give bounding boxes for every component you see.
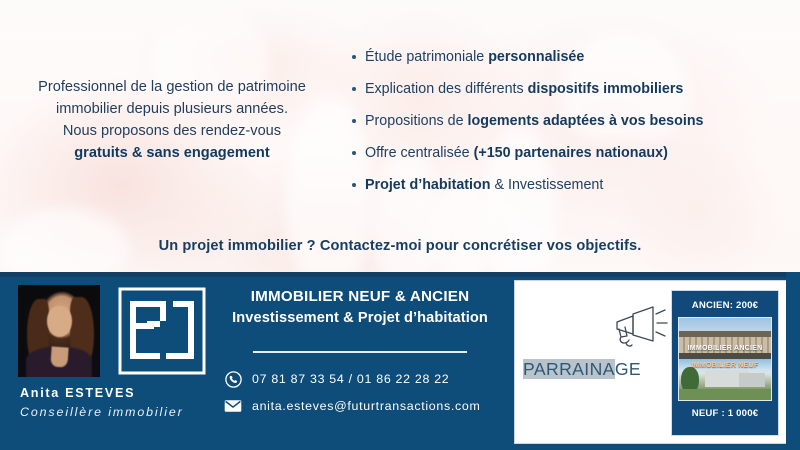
benefits-list: Étude patrimoniale personnalisée Explica…	[352, 48, 782, 208]
benefit-pre: Étude patrimoniale	[365, 49, 488, 65]
avatar-face	[47, 306, 72, 337]
list-item: Projet d’habitation & Investissement	[352, 176, 782, 194]
benefit-post: & Investissement	[491, 177, 604, 193]
benefit-bold: (+150 partenaires nationaux)	[474, 145, 668, 161]
benefit-pre: Offre centralisée	[365, 145, 474, 161]
intro-paragraph: Professionnel de la gestion de patrimoin…	[12, 76, 332, 164]
benefit-text: Projet d’habitation & Investissement	[365, 176, 782, 194]
benefit-text: Propositions de logements adaptées à vos…	[365, 112, 782, 130]
property-photos: IMMOBILIER ANCIEN IMMOBILIER NEUF	[678, 317, 772, 401]
property-photo-new: IMMOBILIER NEUF	[679, 359, 771, 400]
phone-circle-icon	[223, 370, 243, 388]
intro-line-3: Nous proposons des rendez-vous	[12, 120, 332, 142]
banner-title-line-1: IMMOBILIER NEUF & ANCIEN	[215, 286, 505, 307]
photo-caption-old: IMMOBILIER ANCIEN	[679, 344, 771, 352]
referral-label-highlight: PARRAINA	[523, 359, 615, 379]
email-row[interactable]: anita.esteves@futurtransactions.com	[223, 397, 505, 415]
benefit-text: Étude patrimoniale personnalisée	[365, 48, 782, 66]
list-item: Offre centralisée (+150 partenaires nati…	[352, 144, 782, 162]
list-item: Explication des différents dispositifs i…	[352, 80, 782, 98]
referral-label-rest: GE	[615, 359, 641, 379]
benefit-pre: Explication des différents	[365, 81, 528, 97]
bullet-dot-icon	[352, 87, 356, 91]
list-item: Étude patrimoniale personnalisée	[352, 48, 782, 66]
new-building-wing	[739, 373, 765, 387]
property-photo-old: IMMOBILIER ANCIEN	[679, 318, 771, 359]
company-logo-icon	[116, 285, 208, 377]
contact-list: 07 81 87 33 54 / 01 86 22 28 22 anita.es…	[215, 370, 505, 415]
phone-number: 07 81 87 33 54 / 01 86 22 28 22	[252, 372, 449, 386]
banner-title-line-2: Investissement & Projet d’habitation	[215, 308, 505, 329]
benefit-bold: logements adaptées à vos besoins	[468, 113, 704, 129]
avatar-collar	[50, 346, 68, 367]
avatar	[18, 285, 100, 377]
benefit-text: Explication des différents dispositifs i…	[365, 80, 782, 98]
benefit-bold: personnalisée	[488, 49, 584, 65]
referral-label: PARRAINAGE	[523, 359, 663, 380]
email-address: anita.esteves@futurtransactions.com	[252, 399, 481, 413]
new-building-lawn	[679, 389, 771, 400]
banner-center-block: IMMOBILIER NEUF & ANCIEN Investissement …	[215, 286, 505, 424]
megaphone-icon	[603, 303, 675, 355]
intro-line-2: immobilier depuis plusieurs années.	[12, 98, 332, 120]
call-to-action-text: Un projet immobilier ? Contactez-moi pou…	[0, 238, 800, 254]
contact-banner: Anita ESTEVES Conseillère immobilier IMM…	[0, 272, 800, 450]
referral-panel: PARRAINAGE ANCIEN: 200€ IMMOBILIER ANCIE…	[514, 280, 788, 444]
phone-row[interactable]: 07 81 87 33 54 / 01 86 22 28 22	[223, 370, 505, 388]
banner-right-strip	[786, 272, 800, 450]
bullet-dot-icon	[352, 119, 356, 123]
intro-emphasis: gratuits & sans engagement	[12, 142, 332, 164]
marketing-poster: Professionnel de la gestion de patrimoin…	[0, 0, 800, 450]
photo-caption-new: IMMOBILIER NEUF	[679, 361, 771, 369]
list-item: Propositions de logements adaptées à vos…	[352, 112, 782, 130]
price-old: ANCIEN: 200€	[672, 300, 778, 311]
benefit-bold: Projet d’habitation	[365, 177, 491, 193]
price-new: NEUF : 1 000€	[672, 408, 778, 419]
bullet-dot-icon	[352, 55, 356, 59]
bullet-dot-icon	[352, 183, 356, 187]
bullet-dot-icon	[352, 151, 356, 155]
hero-section: Professionnel de la gestion de patrimoin…	[0, 0, 800, 272]
benefit-pre: Propositions de	[365, 113, 468, 129]
banner-top-strip	[0, 272, 800, 277]
benefit-bold: dispositifs immobiliers	[528, 81, 684, 97]
divider	[253, 351, 467, 353]
referral-price-card: ANCIEN: 200€ IMMOBILIER ANCIEN IMMOBILIE…	[671, 290, 779, 436]
envelope-icon	[223, 397, 243, 415]
benefit-text: Offre centralisée (+150 partenaires nati…	[365, 144, 782, 162]
intro-line-1: Professionnel de la gestion de patrimoin…	[12, 76, 332, 98]
